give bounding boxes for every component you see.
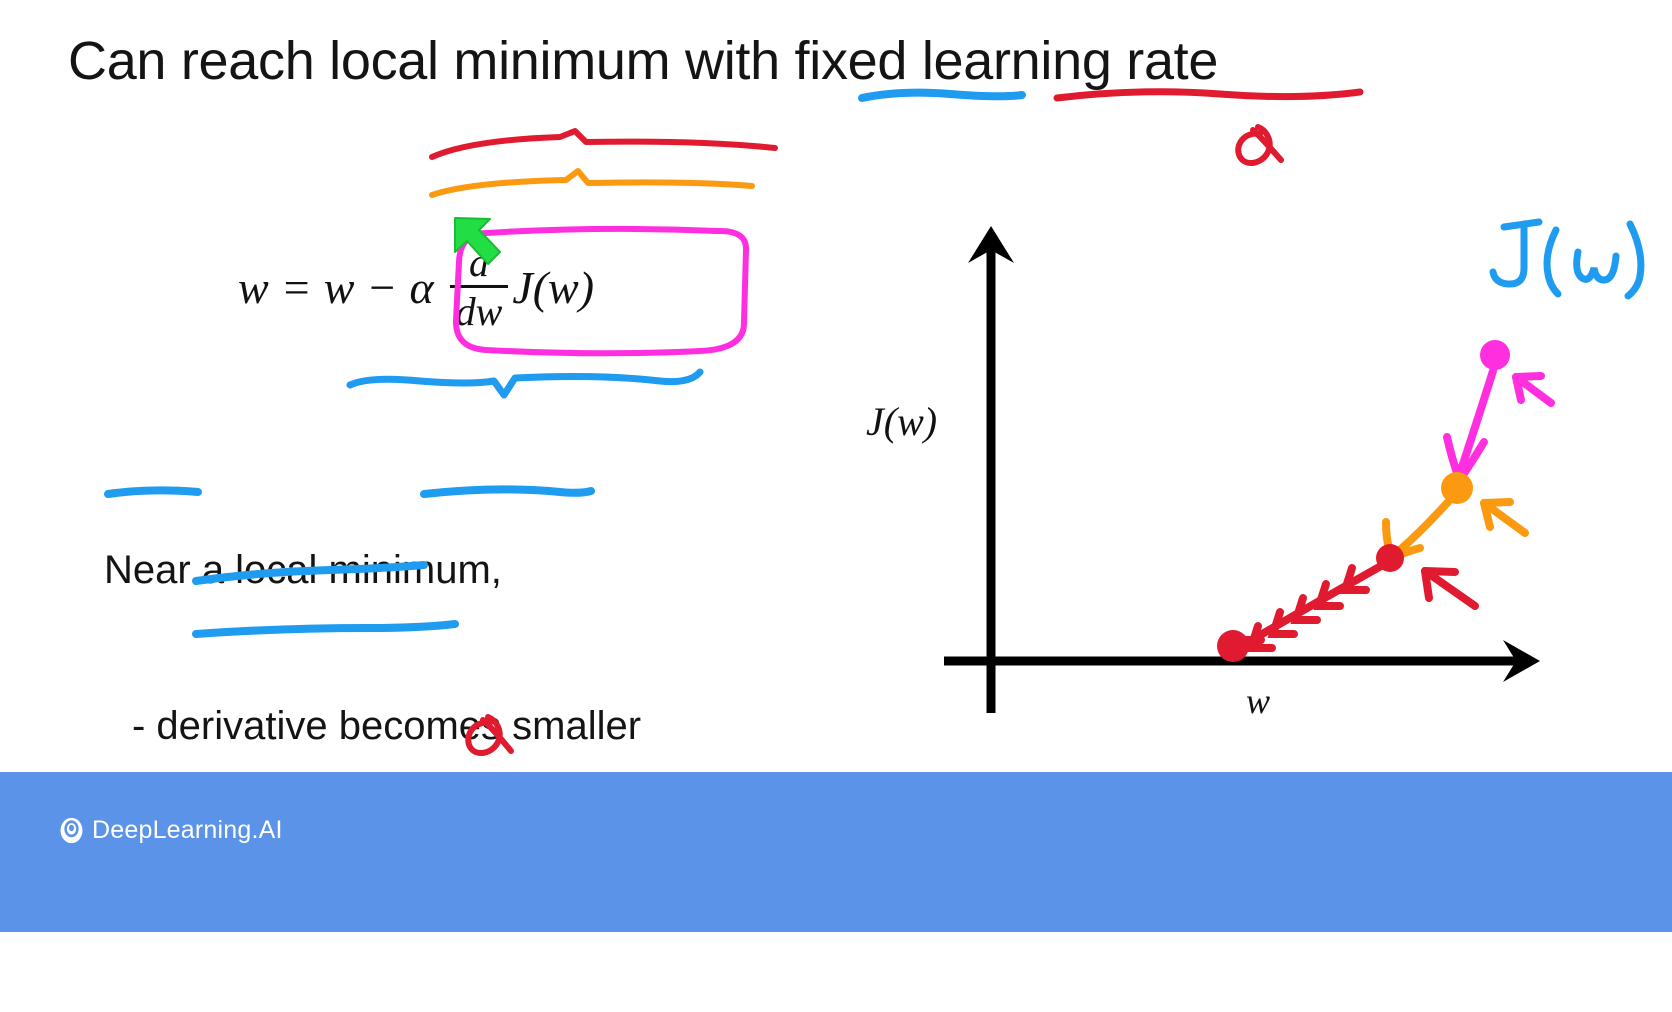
spiral-logo-icon	[58, 817, 85, 844]
underline-fixed	[862, 93, 1022, 98]
y-axis	[968, 226, 1014, 713]
footer-bar: DeepLearning.AI	[0, 772, 1672, 932]
brand-name: DeepLearning.AI	[92, 816, 283, 845]
equation-lhs: w	[238, 261, 269, 314]
fraction-numerator: d	[463, 243, 495, 285]
notes-line-2: - derivative becomes smaller	[104, 700, 679, 752]
data-point-step-3	[1376, 544, 1404, 572]
step-segment-red-small-steps	[1243, 566, 1381, 648]
gradient-descent-equation: w = w − α d dw J(w)	[238, 243, 606, 332]
pointer-arrow-orange	[1484, 502, 1525, 533]
equation-alpha: α	[409, 261, 433, 314]
x-axis-label: w	[1246, 680, 1270, 722]
slide-canvas: Can reach local minimum with fixed learn…	[0, 0, 1672, 932]
underline-learning-rate	[1057, 92, 1360, 98]
data-point-step-4	[1217, 630, 1249, 662]
step-segment-magenta	[1447, 371, 1493, 481]
data-point-step-2	[1441, 472, 1473, 504]
equation-minus: −	[366, 261, 397, 314]
pointer-arrow-red	[1425, 571, 1475, 606]
fraction-denominator: dw	[450, 288, 509, 332]
notes-line-1: Near a local minimum,	[104, 544, 679, 596]
title-alpha-annotation	[1238, 127, 1281, 163]
step-segment-orange	[1386, 502, 1448, 558]
x-axis	[944, 640, 1540, 682]
derivative-fraction: d dw	[450, 243, 509, 332]
curve-label-jw	[1493, 222, 1641, 296]
data-point-step-1	[1480, 340, 1510, 370]
blue-underbrace	[350, 372, 700, 395]
page-title: Can reach local minimum with fixed learn…	[68, 32, 1218, 90]
equation-equals: =	[281, 261, 312, 314]
equation-cost-function: J(w)	[512, 261, 594, 314]
pointer-arrow-magenta	[1516, 376, 1551, 403]
red-overbrace	[432, 131, 775, 157]
brand-logo: DeepLearning.AI	[58, 816, 283, 845]
orange-overbrace	[432, 171, 752, 195]
y-axis-label: J(w)	[866, 398, 937, 445]
equation-term1: w	[324, 261, 355, 314]
